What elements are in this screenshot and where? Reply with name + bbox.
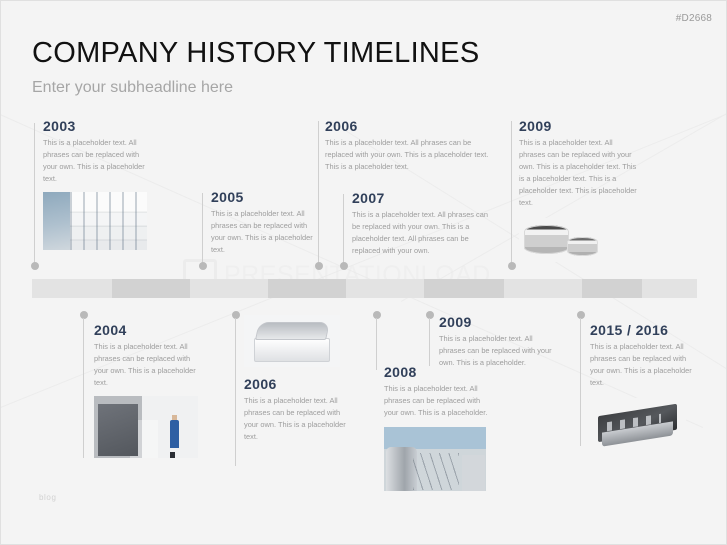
entry-year: 2005 bbox=[211, 190, 317, 205]
battery-label-marks bbox=[607, 414, 661, 432]
entry-text: This is a placeholder text. All phrases … bbox=[43, 137, 151, 185]
connector-line-2006-lower bbox=[235, 318, 236, 466]
page-title: COMPANY HISTORY TIMELINES bbox=[32, 37, 479, 70]
timeline-bar-segment bbox=[424, 279, 504, 298]
timeline-entry-2003[interactable]: 2003 This is a placeholder text. All phr… bbox=[43, 119, 151, 250]
timeline-dot-2006-upper bbox=[315, 262, 323, 270]
entry-text: This is a placeholder text. All phrases … bbox=[439, 333, 554, 369]
timeline-dot-2009-lower bbox=[426, 311, 434, 319]
timeline-dot-2006-lower bbox=[232, 311, 240, 319]
timeline-entry-2008[interactable]: 2008 This is a placeholder text. All phr… bbox=[384, 365, 496, 491]
timeline-bar-segment bbox=[190, 279, 268, 298]
entry-image-battery-module bbox=[590, 398, 686, 450]
entry-image-factory-worker bbox=[94, 396, 198, 458]
timeline-entry-2006-upper[interactable]: 2006 This is a placeholder text. All phr… bbox=[325, 119, 500, 173]
timeline-dot-2008 bbox=[373, 311, 381, 319]
entry-year: 2006 bbox=[325, 119, 500, 134]
timeline-bar-segment bbox=[346, 279, 424, 298]
timeline-entry-2006-lower[interactable]: 2006 This is a placeholder text. All phr… bbox=[244, 315, 348, 443]
timeline-dot-2009-upper bbox=[508, 262, 516, 270]
timeline-entry-2015-2016[interactable]: 2015 / 2016 This is a placeholder text. … bbox=[590, 323, 700, 450]
template-code: #D2668 bbox=[676, 13, 712, 24]
entry-text: This is a placeholder text. All phrases … bbox=[519, 137, 639, 209]
entry-image-storage-silos bbox=[384, 427, 486, 491]
connector-line-2006-upper bbox=[318, 121, 319, 265]
entry-text: This is a placeholder text. All phrases … bbox=[325, 137, 500, 173]
connector-line-2009-upper bbox=[511, 121, 512, 265]
timeline-bar-segment bbox=[504, 279, 582, 298]
connector-line-2005 bbox=[202, 193, 203, 265]
timeline-entry-2007[interactable]: 2007 This is a placeholder text. All phr… bbox=[352, 191, 492, 257]
entry-text: This is a placeholder text. All phrases … bbox=[244, 395, 348, 443]
slide-canvas: #D2668 COMPANY HISTORY TIMELINES Enter y… bbox=[0, 0, 727, 545]
timeline-bar-segment bbox=[582, 279, 642, 298]
timeline-bar[interactable] bbox=[32, 279, 697, 298]
timeline-dot-2015-2016 bbox=[577, 311, 585, 319]
entry-year: 2007 bbox=[352, 191, 492, 206]
connector-line-2003 bbox=[34, 123, 35, 265]
entry-year: 2009 bbox=[439, 315, 554, 330]
connector-line-2008 bbox=[376, 318, 377, 370]
timeline-dot-2003 bbox=[31, 262, 39, 270]
entry-year: 2003 bbox=[43, 119, 151, 134]
entry-image-machine-device bbox=[244, 315, 340, 367]
timeline-entry-2009-upper[interactable]: 2009 This is a placeholder text. All phr… bbox=[519, 119, 639, 262]
entry-year: 2006 bbox=[244, 377, 348, 392]
entry-image-office-building bbox=[43, 192, 147, 250]
timeline-entry-2005[interactable]: 2005 This is a placeholder text. All phr… bbox=[211, 190, 317, 256]
connector-line-2004 bbox=[83, 318, 84, 458]
entry-text: This is a placeholder text. All phrases … bbox=[352, 209, 492, 257]
entry-text: This is a placeholder text. All phrases … bbox=[590, 341, 700, 389]
entry-text: This is a placeholder text. All phrases … bbox=[94, 341, 202, 389]
entry-year: 2004 bbox=[94, 323, 202, 338]
entry-text: This is a placeholder text. All phrases … bbox=[384, 383, 496, 419]
timeline-dot-2004 bbox=[80, 311, 88, 319]
timeline-bar-segment bbox=[32, 279, 112, 298]
footer-label: blog bbox=[39, 493, 57, 502]
entry-year: 2009 bbox=[519, 119, 639, 134]
entry-image-camera-lenses bbox=[519, 218, 605, 262]
timeline-entry-2004[interactable]: 2004 This is a placeholder text. All phr… bbox=[94, 323, 202, 458]
timeline-entry-2009-lower[interactable]: 2009 This is a placeholder text. All phr… bbox=[439, 315, 554, 369]
connector-line-2009-lower bbox=[429, 318, 430, 366]
connector-line-2015-2016 bbox=[580, 318, 581, 446]
timeline-dot-2005 bbox=[199, 262, 207, 270]
timeline-bar-segment bbox=[112, 279, 190, 298]
connector-line-2007 bbox=[343, 194, 344, 265]
timeline-bar-segment bbox=[642, 279, 697, 298]
timeline-bar-segment bbox=[268, 279, 346, 298]
entry-year: 2015 / 2016 bbox=[590, 323, 700, 338]
entry-text: This is a placeholder text. All phrases … bbox=[211, 208, 317, 256]
timeline-dot-2007 bbox=[340, 262, 348, 270]
page-subtitle: Enter your subheadline here bbox=[32, 79, 233, 97]
